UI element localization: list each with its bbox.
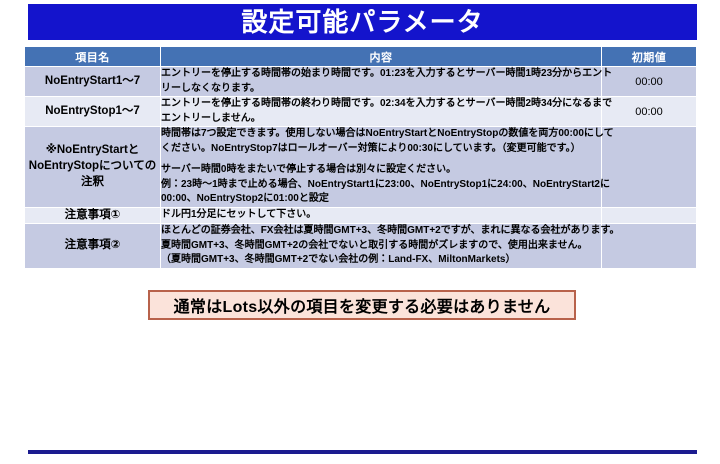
param-initial-value: 00:00 [602,97,697,127]
param-name: NoEntryStop1～7 [25,97,161,127]
parameters-table: 項目名 内容 初期値 NoEntryStart1～7 エントリーを停止する時間帯… [24,46,697,269]
column-header-initial: 初期値 [602,47,697,67]
param-name: ※NoEntryStartと NoEntryStopについての 注釈 [25,127,161,208]
param-name-line: 注釈 [81,176,104,188]
description-line: エントリーを停止する時間帯の始まり時間です。01:23を入力するとサーバー時間1… [161,67,601,82]
param-name-line: NoEntryStopについての [29,160,156,172]
param-description: エントリーを停止する時間帯の終わり時間です。02:34を入力するとサーバー時間2… [161,97,602,127]
description-line: エントリーしません。 [161,112,601,127]
param-initial-value: 00:00 [602,67,697,97]
param-description: エントリーを停止する時間帯の始まり時間です。01:23を入力するとサーバー時間1… [161,67,602,97]
footer-rule [28,450,697,454]
table-row: NoEntryStop1～7 エントリーを停止する時間帯の終わり時間です。02:… [25,97,697,127]
column-header-name: 項目名 [25,47,161,67]
param-description: ドル円1分足にセットして下さい。 [161,207,602,224]
page-title: 設定可能パラメータ [241,9,483,35]
param-description: ほとんどの証券会社、FX会社は夏時間GMT+3、冬時間GMT+2ですが、まれに異… [161,224,602,269]
table-row: NoEntryStart1～7 エントリーを停止する時間帯の始まり時間です。01… [25,67,697,97]
param-name: NoEntryStart1～7 [25,67,161,97]
param-initial-value [602,207,697,224]
description-spacer [161,156,601,163]
slide-root: 設定可能パラメータ 項目名 内容 初期値 NoEntryStart1～7 エント… [0,0,720,464]
table-row: ※NoEntryStartと NoEntryStopについての 注釈 時間帯は7… [25,127,697,208]
description-line: リーしなくなります。 [161,82,601,97]
param-description: 時間帯は7つ設定できます。使用しない場合はNoEntryStartとNoEntr… [161,127,602,208]
slide-title-banner: 設定可能パラメータ [28,4,697,40]
param-name-line: ※NoEntryStartと [46,144,140,156]
description-line: （夏時間GMT+3、冬時間GMT+2でない会社の例：Land-FX、Milton… [161,253,601,268]
description-line: 時間帯は7つ設定できます。使用しない場合はNoEntryStartとNoEntr… [161,127,601,142]
description-line: ください。NoEntryStop7はロールオーバー対策により00:30にしていま… [161,142,601,157]
description-line: ドル円1分足にセットして下さい。 [161,208,601,223]
param-name: 注意事項② [25,224,161,269]
param-initial-value [602,127,697,208]
notice-callout-text: 通常はLots以外の項目を変更する必要はありません [174,293,551,317]
table-row: 注意事項② ほとんどの証券会社、FX会社は夏時間GMT+3、冬時間GMT+2です… [25,224,697,269]
column-header-description: 内容 [161,47,602,67]
description-line: 夏時間GMT+3、冬時間GMT+2の会社でないと取引する時間がズレますので、使用… [161,239,601,254]
description-line: 00:00、NoEntryStop2に01:00と設定 [161,192,601,207]
description-line: ほとんどの証券会社、FX会社は夏時間GMT+3、冬時間GMT+2ですが、まれに異… [161,224,601,239]
notice-callout-box: 通常はLots以外の項目を変更する必要はありません [148,290,576,320]
description-line: サーバー時間0時をまたいで停止する場合は別々に設定ください。 [161,163,601,178]
table-header-row: 項目名 内容 初期値 [25,47,697,67]
table-row: 注意事項① ドル円1分足にセットして下さい。 [25,207,697,224]
description-line: 例：23時～1時まで止める場合、NoEntryStart1に23:00、NoEn… [161,178,601,193]
description-line: エントリーを停止する時間帯の終わり時間です。02:34を入力するとサーバー時間2… [161,97,601,112]
param-name: 注意事項① [25,207,161,224]
